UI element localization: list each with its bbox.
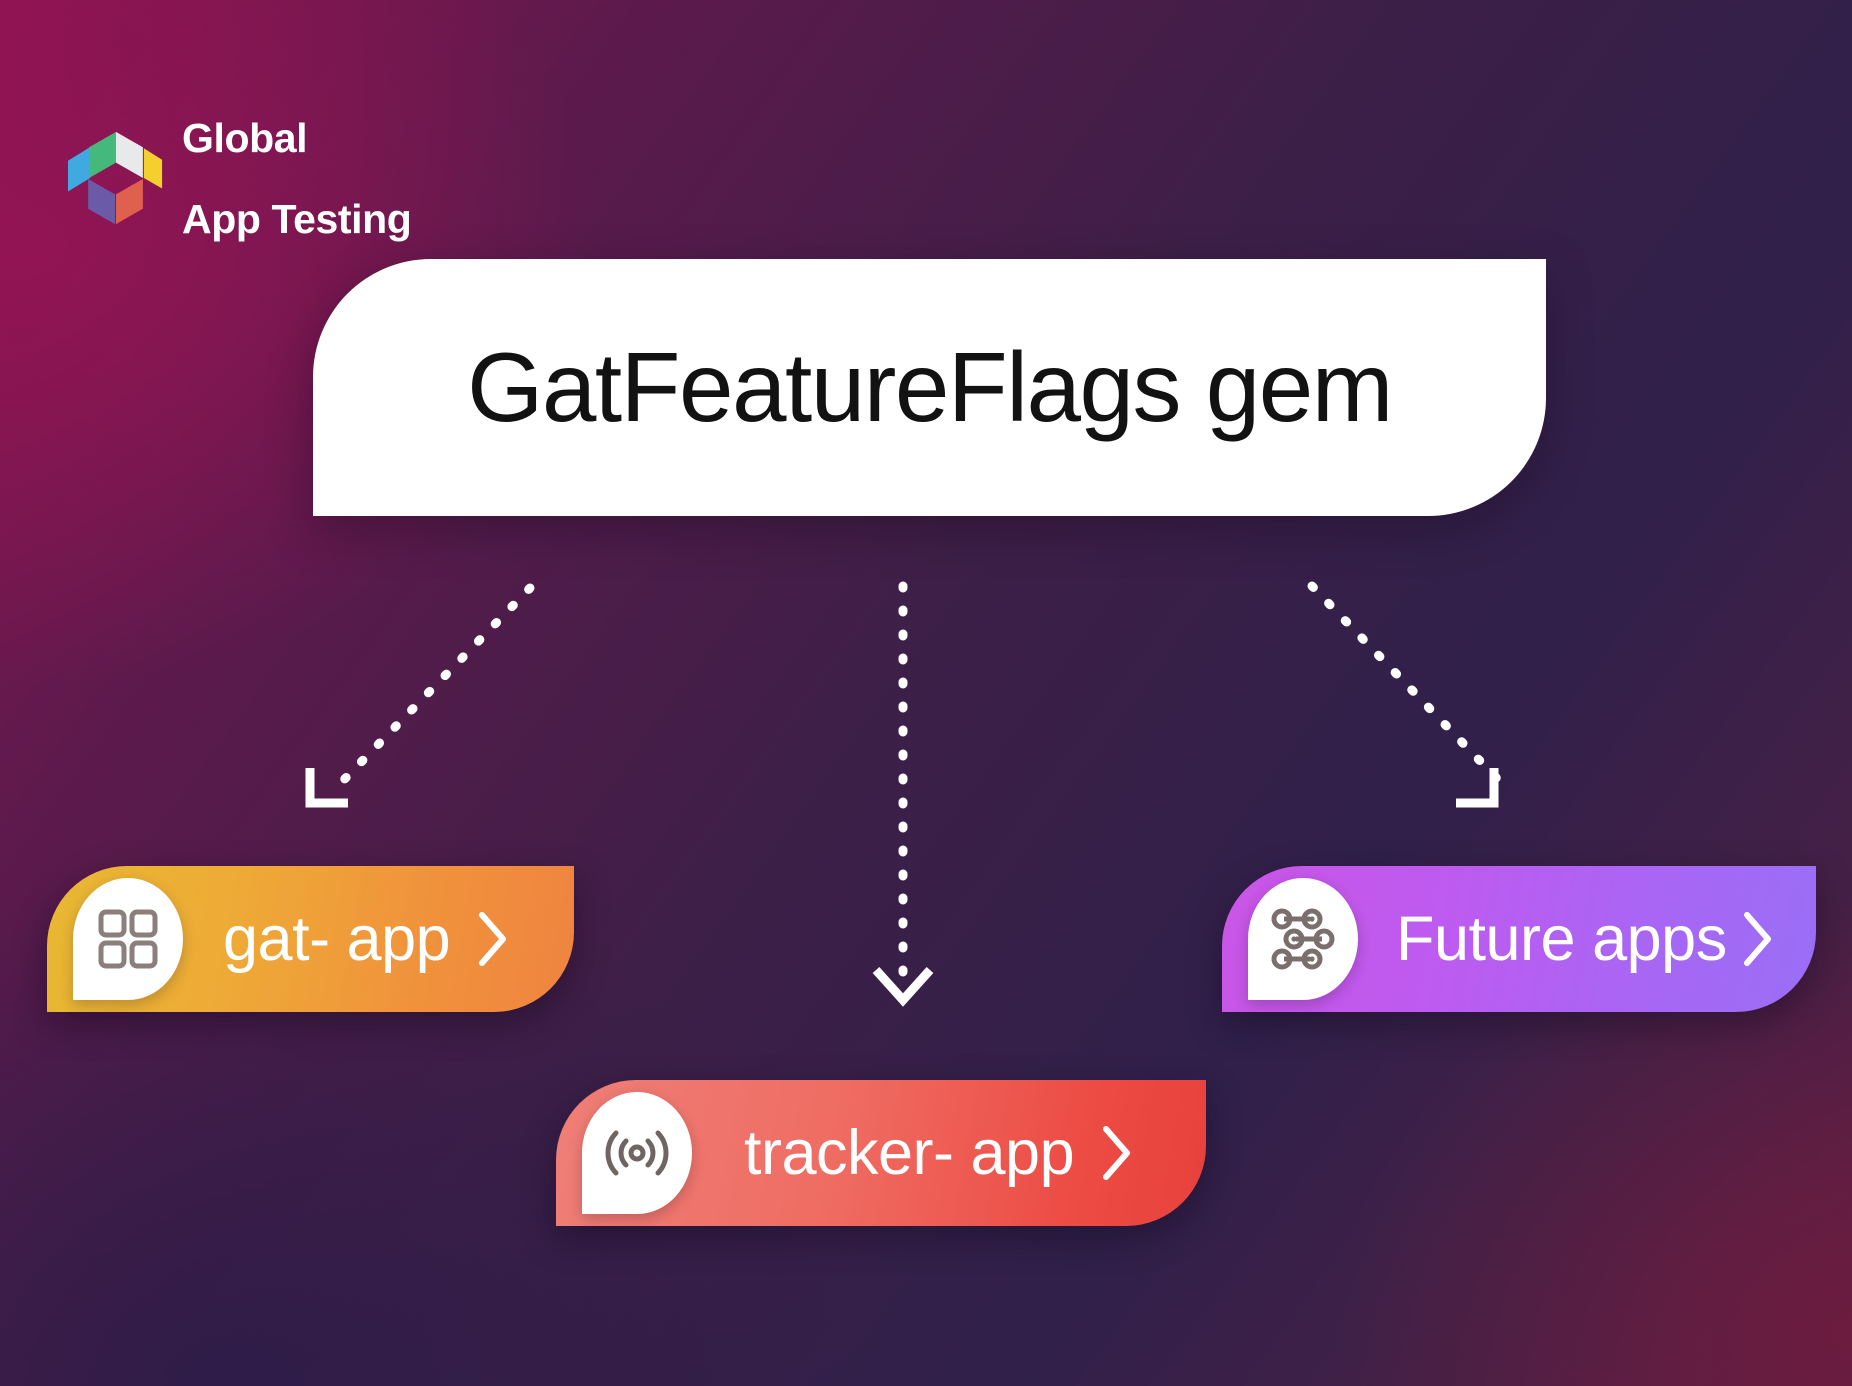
node-gat-app[interactable]: gat- app — [47, 866, 574, 1012]
chevron-right-icon[interactable] — [476, 910, 510, 968]
chevron-right-icon[interactable] — [1741, 910, 1775, 968]
hexagon-cube-logo-icon — [68, 128, 164, 228]
future-apps-label: Future apps — [1396, 903, 1727, 975]
network-nodes-icon — [1270, 906, 1336, 972]
grid-four-squares-icon — [96, 907, 160, 971]
diagram-canvas: Global App Testing GatFeatureFlags gem — [0, 0, 1852, 1386]
brand-logo: Global App Testing — [68, 78, 411, 279]
page-title: GatFeatureFlags gem — [467, 331, 1392, 444]
arrow-to-gat-app — [310, 588, 530, 803]
arrow-to-tracker-app — [876, 586, 930, 1000]
brand-wordmark: Global App Testing — [182, 78, 411, 279]
arrow-to-future-apps — [1312, 586, 1508, 803]
node-tracker-app[interactable]: tracker- app — [556, 1080, 1206, 1226]
gat-app-badge — [73, 878, 183, 1000]
tracker-app-label: tracker- app — [744, 1117, 1074, 1189]
title-card: GatFeatureFlags gem — [313, 259, 1546, 516]
gat-app-label: gat- app — [223, 903, 450, 975]
brand-name-line-2: App Testing — [182, 199, 411, 239]
brand-name-line-1: Global — [182, 118, 411, 158]
broadcast-signal-icon — [604, 1124, 670, 1182]
tracker-app-badge — [582, 1092, 692, 1214]
node-future-apps[interactable]: Future apps — [1222, 866, 1816, 1012]
future-apps-badge — [1248, 878, 1358, 1000]
chevron-right-icon[interactable] — [1100, 1124, 1134, 1182]
